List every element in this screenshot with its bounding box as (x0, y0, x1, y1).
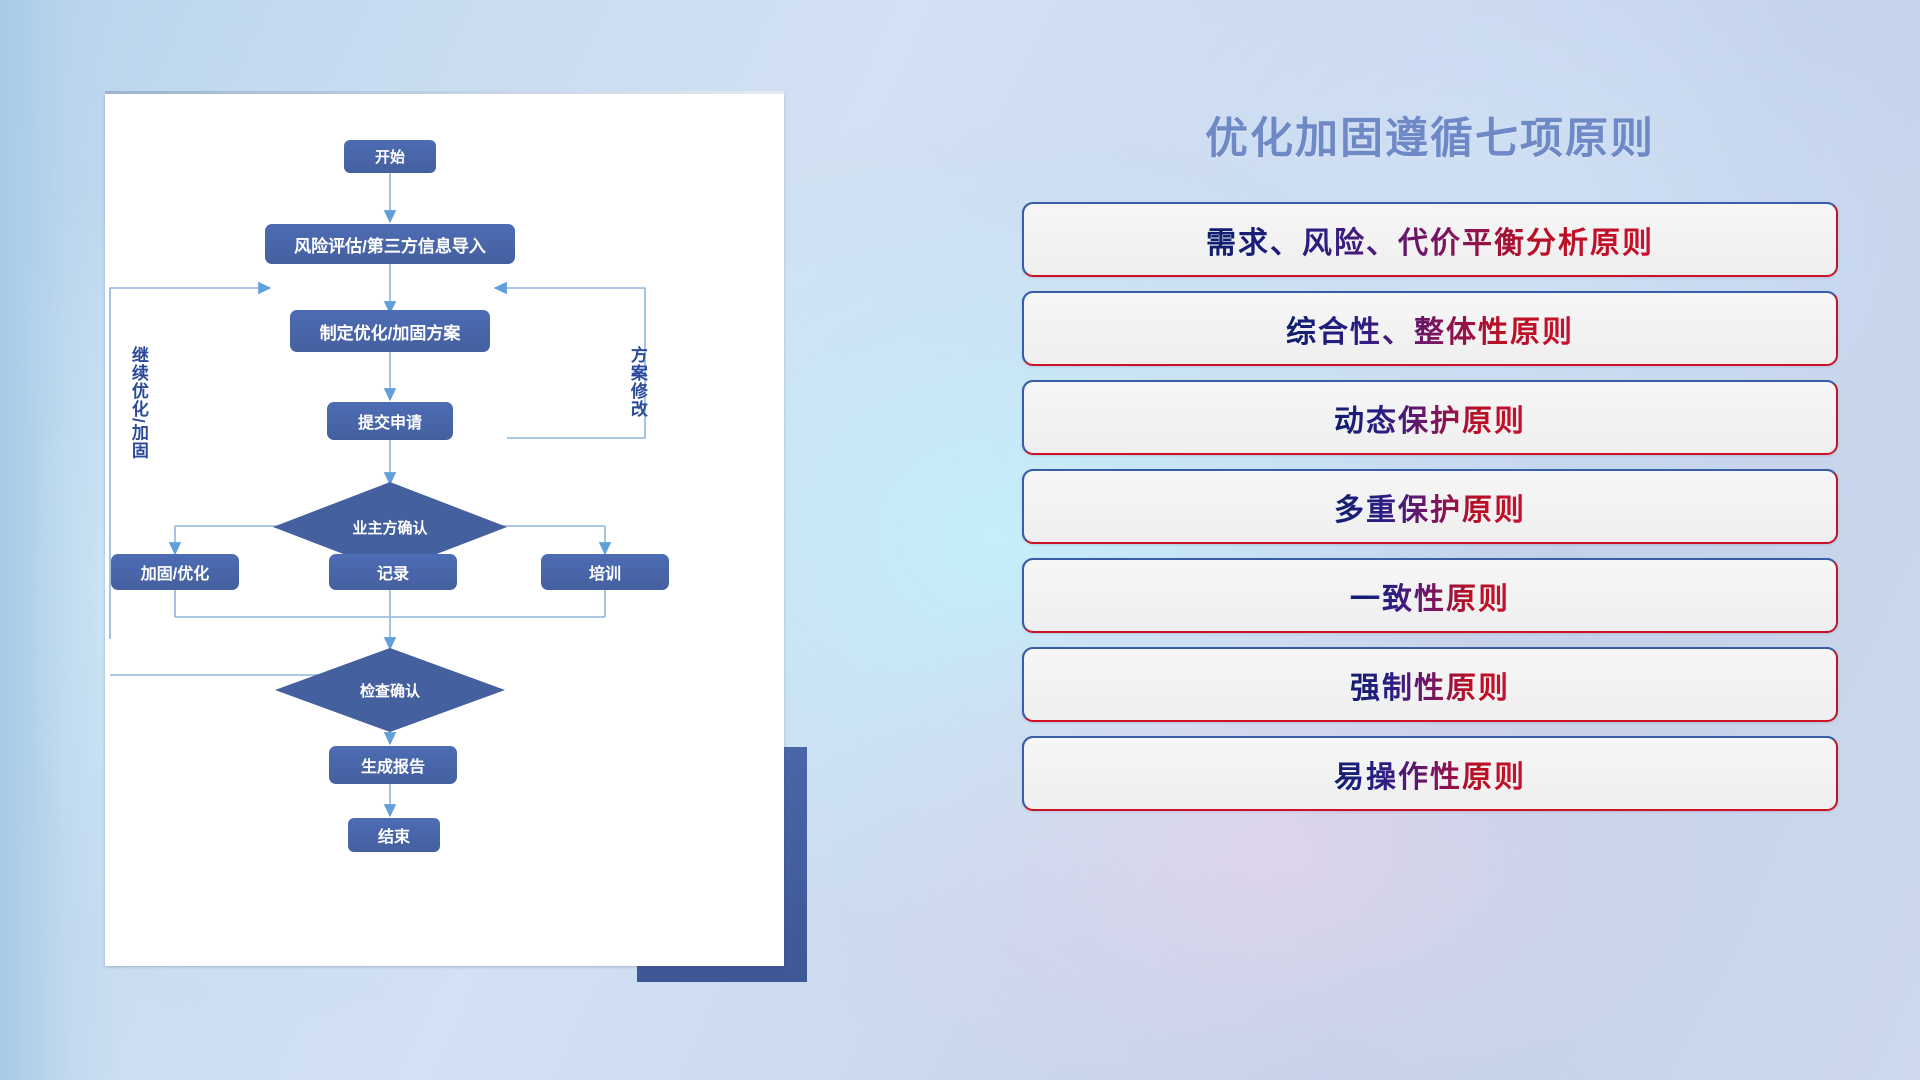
flowchart-card: 开始 风险评估/第三方信息导入 制定优化/加固方案 提交申请 业主方确认 加固/… (105, 94, 784, 966)
principle-label: 需求、风险、代价平衡分析原则 (1206, 218, 1654, 262)
principle-item[interactable]: 需求、风险、代价平衡分析原则 (1022, 202, 1838, 277)
principles-panel: 优化加固遵循七项原则 需求、风险、代价平衡分析原则 综合性、整体性原则 动态保护… (1020, 78, 1840, 1018)
principle-label: 多重保护原则 (1334, 485, 1526, 529)
principle-item[interactable]: 强制性原则 (1022, 647, 1838, 722)
panel-title: 优化加固遵循七项原则 (1020, 104, 1840, 166)
flowchart-canvas (105, 94, 784, 966)
flow-edge-label-plan-revision: 方案修改 (628, 346, 646, 452)
principle-item[interactable]: 动态保护原则 (1022, 380, 1838, 455)
principle-label: 强制性原则 (1350, 663, 1510, 707)
principle-label: 动态保护原则 (1334, 396, 1526, 440)
principle-item[interactable]: 易操作性原则 (1022, 736, 1838, 811)
flow-edge-label-continue-loop: 继续优化/加固 (129, 346, 147, 486)
principle-label: 综合性、整体性原则 (1286, 307, 1574, 351)
principle-label: 一致性原则 (1350, 574, 1510, 618)
principle-item[interactable]: 多重保护原则 (1022, 469, 1838, 544)
principle-item[interactable]: 一致性原则 (1022, 558, 1838, 633)
principle-list: 需求、风险、代价平衡分析原则 综合性、整体性原则 动态保护原则 多重保护原则 一… (1020, 202, 1840, 811)
principle-label: 易操作性原则 (1334, 752, 1526, 796)
background-edge-left (0, 0, 120, 1080)
principle-item[interactable]: 综合性、整体性原则 (1022, 291, 1838, 366)
